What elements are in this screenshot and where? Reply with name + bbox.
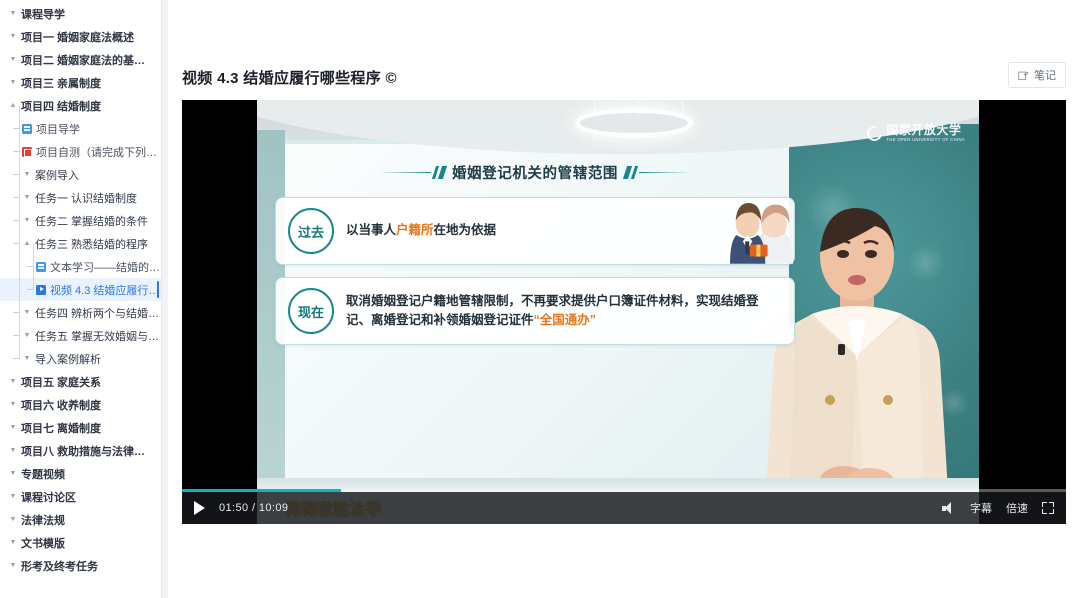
chevron-up-icon[interactable]: ▲ — [8, 102, 18, 109]
sidebar-item-3[interactable]: ▼项目三 亲属制度 — [0, 71, 161, 94]
card-text-before: 以当事人 — [346, 223, 396, 237]
video-player[interactable]: 国家开放大学 THE OPEN UNIVERSITY OF CHINA — [182, 100, 1066, 524]
university-logo: 国家开放大学 THE OPEN UNIVERSITY OF CHINA — [867, 124, 965, 142]
slide-decoration-left — [379, 166, 445, 179]
video-controls-right: 字幕 倍速 — [942, 500, 1054, 516]
content-header: 视频 4.3 结婚应履行哪些程序 © 笔记 — [168, 0, 1080, 100]
sidebar-item-13[interactable]: ▼任务四 辨析两个与结婚有… — [0, 301, 161, 324]
sidebar-item-label: 专题视频 — [21, 466, 65, 482]
sidebar-item-label: 项目七 离婚制度 — [21, 420, 101, 436]
sidebar-item-18[interactable]: ▼项目七 离婚制度 — [0, 416, 161, 439]
video-icon — [36, 285, 46, 295]
course-player-page: ▼课程导学▼项目一 婚姻家庭法概述▼项目二 婚姻家庭法的基…▼项目三 亲属制度▲… — [0, 0, 1080, 598]
chevron-down-icon[interactable]: ▼ — [22, 217, 32, 224]
chevron-down-icon[interactable]: ▼ — [8, 539, 18, 546]
sidebar-item-17[interactable]: ▼项目六 收养制度 — [0, 393, 161, 416]
sidebar-item-4[interactable]: ▲项目四 结婚制度 — [0, 94, 161, 117]
card-text-highlight: 户籍所 — [396, 223, 434, 237]
chevron-down-icon[interactable]: ▼ — [22, 355, 32, 362]
sidebar-item-label: 课程讨论区 — [21, 489, 76, 505]
main-content: 视频 4.3 结婚应履行哪些程序 © 笔记 — [168, 0, 1080, 598]
sidebar-item-11[interactable]: 文本学习——结婚的程序 — [0, 255, 161, 278]
card-text: 以当事人户籍所在地为依据 — [346, 221, 496, 240]
sidebar-item-label: 项目导学 — [36, 121, 80, 137]
course-tree: ▼课程导学▼项目一 婚姻家庭法概述▼项目二 婚姻家庭法的基…▼项目三 亲属制度▲… — [0, 0, 161, 577]
slide-content: 婚姻登记机关的管辖范围 过去 以当事人户籍所在地为依据 — [275, 162, 795, 357]
sidebar-item-16[interactable]: ▼项目五 家庭关系 — [0, 370, 161, 393]
chevron-down-icon[interactable]: ▼ — [8, 33, 18, 40]
document-icon — [22, 124, 32, 134]
sidebar-item-21[interactable]: ▼课程讨论区 — [0, 485, 161, 508]
logo-text-cn: 国家开放大学 — [886, 124, 965, 136]
sidebar-item-label: 案例导入 — [35, 167, 79, 183]
quiz-icon — [22, 147, 32, 157]
sidebar-item-15[interactable]: ▼导入案例解析 — [0, 347, 161, 370]
page-title: 视频 4.3 结婚应履行哪些程序 © — [182, 67, 397, 88]
slide-card-past: 过去 以当事人户籍所在地为依据 — [275, 197, 795, 265]
tree-vline — [19, 106, 20, 359]
sidebar-item-2[interactable]: ▼项目二 婚姻家庭法的基… — [0, 48, 161, 71]
sidebar-item-label: 项目八 救助措施与法律… — [21, 443, 145, 459]
fullscreen-icon[interactable] — [1042, 502, 1054, 514]
sidebar-item-label: 项目一 婚姻家庭法概述 — [21, 29, 134, 45]
sidebar-item-label: 任务一 认识结婚制度 — [35, 190, 137, 206]
edit-note-icon — [1018, 70, 1029, 81]
chevron-down-icon[interactable]: ▼ — [8, 424, 18, 431]
sidebar-item-10[interactable]: ▲任务三 熟悉结婚的程序 — [0, 232, 161, 255]
sidebar-item-label: 形考及终考任务 — [21, 558, 98, 574]
volume-icon[interactable] — [942, 502, 956, 514]
sidebar-item-12[interactable]: 视频 4.3 结婚应履行哪… — [0, 278, 161, 301]
sidebar-item-1[interactable]: ▼项目一 婚姻家庭法概述 — [0, 25, 161, 48]
slide-title-row: 婚姻登记机关的管辖范围 — [275, 162, 795, 183]
tree-vline — [33, 244, 34, 290]
chevron-down-icon[interactable]: ▼ — [8, 516, 18, 523]
chevron-down-icon[interactable]: ▼ — [8, 562, 18, 569]
chevron-down-icon[interactable]: ▼ — [22, 194, 32, 201]
sidebar-item-label: 项目六 收养制度 — [21, 397, 101, 413]
sidebar-item-0[interactable]: ▼课程导学 — [0, 2, 161, 25]
chevron-down-icon[interactable]: ▼ — [8, 378, 18, 385]
card-text: 取消婚姻登记户籍地管辖限制，不再要求提供户口簿证件材料，实现结婚登记、离婚登记和… — [346, 292, 782, 331]
speed-button[interactable]: 倍速 — [1006, 500, 1028, 516]
card-text-after: 在地为依据 — [434, 223, 497, 237]
subtitle-button[interactable]: 字幕 — [970, 500, 992, 516]
sidebar-item-20[interactable]: ▼专题视频 — [0, 462, 161, 485]
card-badge: 现在 — [288, 288, 334, 334]
video-controls: 01:50 / 10:09 字幕 倍速 — [182, 492, 1066, 524]
slide-card-present: 现在 取消婚姻登记户籍地管辖限制，不再要求提供户口簿证件材料，实现结婚登记、离婚… — [275, 277, 795, 345]
sidebar-item-label: 任务五 掌握无效婚姻与可… — [35, 328, 161, 344]
sidebar-item-label: 项目自测（请完成下列任… — [36, 144, 161, 160]
slide-decoration-right — [625, 166, 691, 179]
sidebar-item-label: 任务二 掌握结婚的条件 — [35, 213, 148, 229]
sidebar-item-label: 文本学习——结婚的程序 — [50, 259, 161, 275]
card-text-highlight: “全国通办” — [534, 313, 597, 327]
chevron-down-icon[interactable]: ▼ — [22, 171, 32, 178]
sidebar-item-label: 项目三 亲属制度 — [21, 75, 101, 91]
sidebar-item-label: 导入案例解析 — [35, 351, 101, 367]
chevron-down-icon[interactable]: ▼ — [8, 493, 18, 500]
ring-light-icon — [575, 108, 693, 138]
sidebar-item-label: 项目五 家庭关系 — [21, 374, 101, 390]
chevron-down-icon[interactable]: ▼ — [8, 10, 18, 17]
sidebar-item-7[interactable]: ▼案例导入 — [0, 163, 161, 186]
chevron-up-icon[interactable]: ▲ — [22, 240, 32, 247]
sidebar-item-9[interactable]: ▼任务二 掌握结婚的条件 — [0, 209, 161, 232]
play-icon[interactable] — [194, 501, 205, 515]
sidebar-item-label: 法律法规 — [21, 512, 65, 528]
chevron-down-icon[interactable]: ▼ — [8, 470, 18, 477]
sidebar-item-label: 课程导学 — [21, 6, 65, 22]
sidebar-item-6[interactable]: 项目自测（请完成下列任… — [0, 140, 161, 163]
wedding-couple-illustration — [726, 198, 798, 264]
chevron-down-icon[interactable]: ▼ — [8, 79, 18, 86]
chevron-down-icon[interactable]: ▼ — [8, 447, 18, 454]
sidebar-item-label: 视频 4.3 结婚应履行哪… — [50, 282, 161, 298]
sidebar-item-label: 任务三 熟悉结婚的程序 — [35, 236, 148, 252]
chevron-down-icon[interactable]: ▼ — [8, 56, 18, 63]
card-badge: 过去 — [288, 208, 334, 254]
logo-text-en: THE OPEN UNIVERSITY OF CHINA — [886, 138, 965, 142]
sidebar-item-14[interactable]: ▼任务五 掌握无效婚姻与可… — [0, 324, 161, 347]
sidebar-item-label: 项目二 婚姻家庭法的基… — [21, 52, 145, 68]
notes-button-label: 笔记 — [1034, 67, 1056, 83]
notes-button[interactable]: 笔记 — [1008, 62, 1066, 88]
sidebar-item-label: 文书模版 — [21, 535, 65, 551]
chevron-down-icon[interactable]: ▼ — [8, 401, 18, 408]
sidebar-item-label: 项目四 结婚制度 — [21, 98, 101, 114]
sidebar-item-label: 任务四 辨析两个与结婚有… — [35, 305, 161, 321]
document-icon — [36, 262, 46, 272]
sidebar-item-22[interactable]: ▼法律法规 — [0, 508, 161, 531]
video-time: 01:50 / 10:09 — [219, 502, 288, 514]
course-outline-sidebar[interactable]: ▼课程导学▼项目一 婚姻家庭法概述▼项目二 婚姻家庭法的基…▼项目三 亲属制度▲… — [0, 0, 162, 598]
logo-mark-icon — [865, 123, 885, 143]
sidebar-item-23[interactable]: ▼文书模版 — [0, 531, 161, 554]
sidebar-item-19[interactable]: ▼项目八 救助措施与法律… — [0, 439, 161, 462]
chevron-down-icon[interactable]: ▼ — [22, 332, 32, 339]
slide-title: 婚姻登记机关的管辖范围 — [452, 162, 618, 183]
sidebar-item-5[interactable]: 项目导学 — [0, 117, 161, 140]
chevron-down-icon[interactable]: ▼ — [22, 309, 32, 316]
video-frame: 国家开放大学 THE OPEN UNIVERSITY OF CHINA — [257, 100, 979, 524]
sidebar-item-24[interactable]: ▼形考及终考任务 — [0, 554, 161, 577]
sidebar-item-8[interactable]: ▼任务一 认识结婚制度 — [0, 186, 161, 209]
